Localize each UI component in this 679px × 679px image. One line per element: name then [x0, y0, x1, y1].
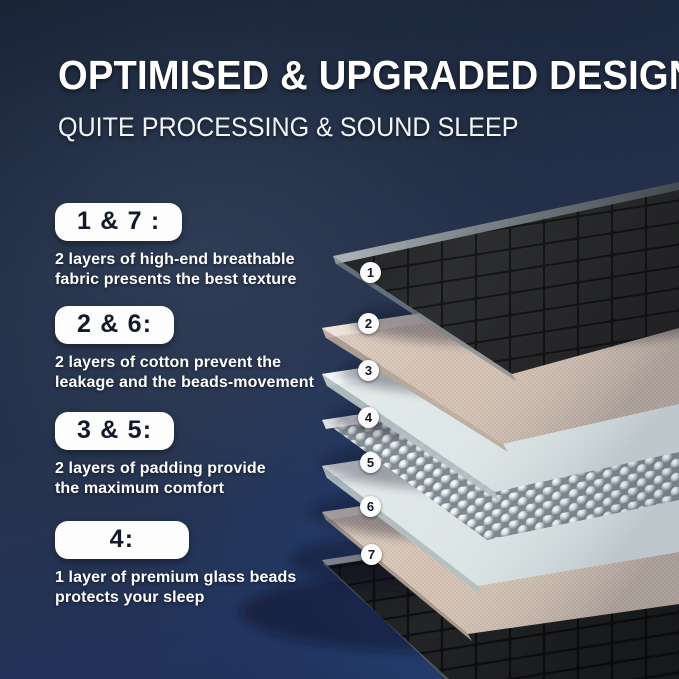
- page-subtitle: QUITE PROCESSING & SOUND SLEEP: [58, 112, 616, 142]
- desc-line-1: 2 layers of high-end breathable: [55, 250, 315, 270]
- info-block-2-and-6: 2 & 6: 2 layers of cotton prevent the le…: [55, 306, 315, 393]
- layer-badge-2: 2: [358, 313, 379, 334]
- layer-description-3-and-5: 2 layers of padding provide the maximum …: [55, 459, 315, 499]
- layer-pill-label: 3 & 5:: [77, 416, 152, 444]
- layer-pill-4: 4:: [55, 521, 189, 559]
- layer-pill-label: 2 & 6:: [77, 310, 152, 338]
- layer-badge-6: 6: [360, 496, 381, 517]
- layer-pill-2-and-6: 2 & 6:: [55, 306, 174, 344]
- info-block-3-and-5: 3 & 5: 2 layers of padding provide the m…: [55, 412, 315, 499]
- layer-pill-3-and-5: 3 & 5:: [55, 412, 174, 450]
- layer-badge-7: 7: [361, 544, 382, 565]
- heading-group: OPTIMISED & UPGRADED DESIGN QUITE PROCES…: [58, 52, 658, 142]
- info-block-4: 4: 1 layer of premium glass beads protec…: [55, 521, 315, 608]
- layer-badge-5: 5: [360, 452, 381, 473]
- layer-description-4: 1 layer of premium glass beads protects …: [55, 568, 315, 608]
- layer-badge-3: 3: [358, 360, 379, 381]
- layer-description-1-and-7: 2 layers of high-end breathable fabric p…: [55, 250, 315, 290]
- desc-line-2: the maximum comfort: [55, 479, 315, 499]
- desc-line-1: 2 layers of padding provide: [55, 459, 315, 479]
- desc-line-2: fabric presents the best texture: [55, 270, 315, 290]
- info-block-1-and-7: 1 & 7 : 2 layers of high-end breathable …: [55, 203, 315, 290]
- layer-badge-4: 4: [358, 407, 379, 428]
- desc-line-2: leakage and the beads-movement: [55, 373, 315, 393]
- layer-pill-label: 4:: [110, 525, 135, 553]
- desc-line-2: protects your sleep: [55, 588, 315, 608]
- layer-badge-1: 1: [360, 262, 381, 283]
- infographic-poster: 1 2 3 4 5 6 7 OPTIMISED & UPGRADED DESIG…: [0, 0, 679, 679]
- page-title: OPTIMISED & UPGRADED DESIGN: [58, 52, 616, 98]
- desc-line-1: 2 layers of cotton prevent the: [55, 353, 315, 373]
- layer-pill-1-and-7: 1 & 7 :: [55, 203, 182, 241]
- layer-description-2-and-6: 2 layers of cotton prevent the leakage a…: [55, 353, 315, 393]
- layer-pill-label: 1 & 7 :: [77, 207, 160, 235]
- desc-line-1: 1 layer of premium glass beads: [55, 568, 315, 588]
